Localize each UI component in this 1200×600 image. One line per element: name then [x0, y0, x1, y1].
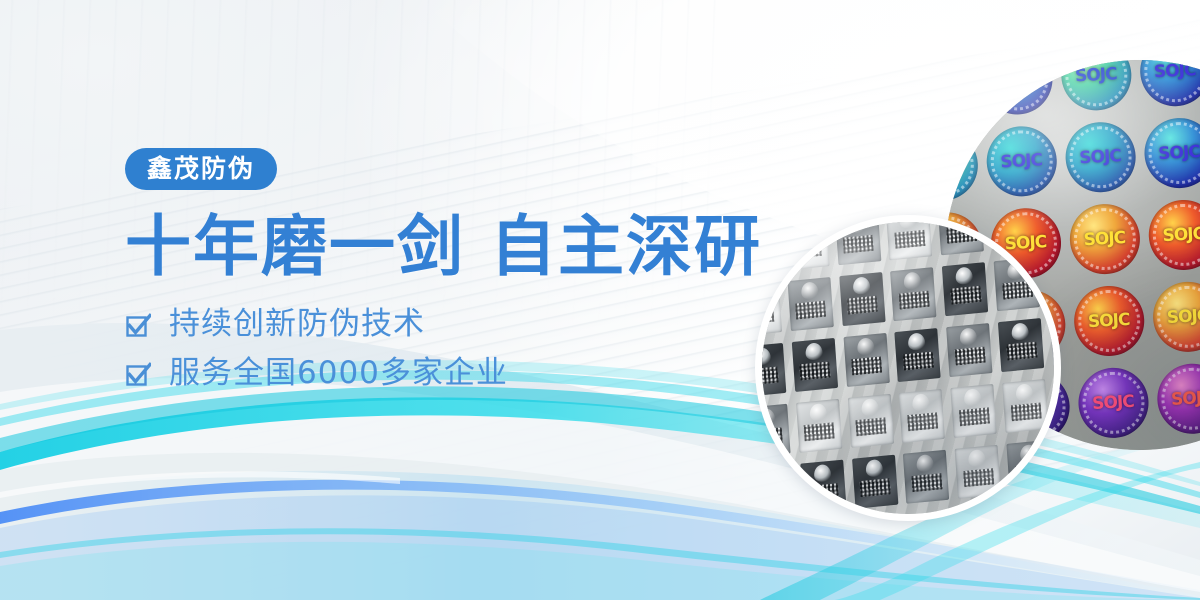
round-sticker: SOJC: [1142, 116, 1200, 190]
sticker-emblem-icon: [813, 464, 831, 483]
square-sticker: [852, 455, 898, 509]
round-sticker: SOJC: [945, 60, 975, 120]
round-sticker: SOJC: [1155, 362, 1200, 436]
square-sticker: [938, 215, 984, 255]
sticker-code: [907, 412, 938, 431]
square-sticker: [835, 215, 881, 265]
round-sticker: SOJC: [1080, 448, 1154, 450]
sticker-code: [800, 362, 831, 381]
sticker-emblem-icon: [964, 388, 982, 407]
sticker-emblem-icon: [1007, 261, 1025, 280]
square-sticker: [951, 384, 997, 438]
checkbox-checked-icon: [125, 361, 151, 387]
sticker-emblem-icon: [1011, 322, 1029, 341]
round-sticker: SOJC: [1059, 60, 1133, 112]
sticker-glyph: SOJC: [1166, 307, 1200, 326]
sticker-code: [1015, 463, 1046, 482]
square-sticker: [847, 394, 893, 448]
square-sticker: [839, 272, 885, 326]
sticker-code: [950, 286, 981, 305]
sticker-emblem-icon: [899, 215, 917, 229]
sticker-emblem-icon: [1016, 383, 1034, 402]
sticker-code: [911, 473, 942, 492]
list-item-label: 持续创新防伪技术: [169, 309, 425, 340]
sticker-code: [808, 483, 839, 502]
sticker-glyph: SOJC: [1162, 225, 1200, 244]
square-sticker: [1002, 379, 1048, 433]
sticker-emblem-icon: [762, 469, 780, 488]
sticker-code: [795, 301, 826, 320]
sticker-code: [1002, 281, 1033, 300]
round-sticker: SOJC: [1138, 60, 1200, 108]
sticker-code: [959, 407, 990, 426]
square-sticker: [783, 216, 829, 270]
sticker-code: [998, 220, 1029, 239]
sticker-emblem-icon: [856, 337, 874, 356]
square-sticker: [891, 267, 937, 321]
sticker-emblem-icon: [796, 220, 814, 239]
sticker-emblem-icon: [1020, 444, 1038, 463]
square-sticker: [899, 389, 945, 443]
round-sticker: SOJC: [1151, 280, 1200, 354]
round-sticker: SOJC: [945, 129, 979, 203]
checkbox-checked-icon: [125, 312, 151, 338]
sticker-glyph: SOJC: [1158, 144, 1200, 163]
list-item: 服务全国6000多家企业: [125, 358, 765, 389]
sticker-code: [851, 357, 882, 376]
sticker-glyph: SOJC: [945, 156, 963, 175]
square-sticker: [903, 450, 949, 504]
sticker-emblem-icon: [861, 398, 879, 417]
sticker-glyph: SOJC: [1154, 62, 1196, 81]
sticker-emblem-icon: [912, 393, 930, 412]
square-sticker: [886, 215, 932, 260]
feature-list: 持续创新防伪技术 服务全国6000多家企业: [125, 309, 765, 389]
square-sticker: [787, 277, 833, 331]
sticker-emblem-icon: [904, 271, 922, 290]
sticker-emblem-icon: [800, 281, 818, 300]
square-sticker: [994, 257, 1040, 311]
round-sticker: SOJC: [1063, 120, 1137, 194]
sticker-code: [899, 291, 930, 310]
round-sticker: SOJC: [980, 60, 1054, 116]
sticker-code: [804, 422, 835, 441]
sticker-emblem-icon: [955, 266, 973, 285]
square-sticker-grid: [755, 215, 1061, 521]
headline: 十年磨一剑 自主深研: [125, 212, 765, 281]
sticker-code: [946, 225, 977, 244]
sticker-code: [860, 478, 891, 497]
sticker-emblem-icon: [805, 342, 823, 361]
sticker-code: [903, 352, 934, 371]
square-sticker: [942, 262, 988, 316]
sticker-emblem-icon: [960, 327, 978, 346]
sticker-code: [847, 296, 878, 315]
sticker-code: [856, 417, 887, 436]
sticker-code: [843, 235, 874, 254]
square-sticker: [792, 338, 838, 392]
round-sticker: SOJC: [1147, 198, 1200, 272]
hologram-silver-circle-image: [755, 215, 1061, 521]
round-sticker: SOJC: [1159, 444, 1200, 450]
sticker-glyph: SOJC: [945, 74, 959, 93]
sticker-code: [894, 230, 925, 249]
square-sticker: [946, 323, 992, 377]
sticker-glyph: SOJC: [1088, 311, 1130, 330]
sticker-emblem-icon: [809, 403, 827, 422]
sticker-emblem-icon: [908, 332, 926, 351]
sticker-emblem-icon: [865, 459, 883, 478]
sticker-code: [791, 240, 822, 259]
sticker-code: [963, 468, 994, 487]
banner-text-content: 鑫茂防伪 十年磨一剑 自主深研 持续创新防伪技术 服务全国6000多家企业: [125, 148, 765, 407]
sticker-emblem-icon: [916, 454, 934, 473]
square-sticker: [895, 328, 941, 382]
brand-badge: 鑫茂防伪: [125, 148, 277, 190]
sticker-code: [955, 347, 986, 366]
square-sticker: [843, 333, 889, 387]
sticker-code: [1006, 342, 1037, 361]
round-sticker: SOJC: [1072, 284, 1146, 358]
sticker-glyph: SOJC: [996, 70, 1038, 89]
round-sticker: SOJC: [984, 125, 1058, 199]
sticker-glyph: SOJC: [1075, 66, 1117, 85]
square-sticker: [955, 445, 1001, 499]
sticker-code: [1010, 402, 1041, 421]
list-item-label: 服务全国6000多家企业: [169, 358, 508, 389]
promotional-banner: SOJC SOJC SOJC SOJC SOJC SOJC SOJC SOJC …: [0, 0, 1200, 600]
square-sticker: [796, 399, 842, 453]
round-sticker: SOJC: [1076, 366, 1150, 440]
square-sticker: [1007, 440, 1053, 494]
sticker-glyph: SOJC: [1083, 230, 1125, 249]
sticker-code: [757, 488, 788, 507]
sticker-glyph: SOJC: [1092, 393, 1134, 412]
sticker-glyph: SOJC: [1079, 148, 1121, 167]
sticker-glyph: SOJC: [1171, 389, 1200, 408]
sticker-glyph: SOJC: [1000, 152, 1042, 171]
sticker-emblem-icon: [968, 449, 986, 468]
square-sticker: [800, 460, 846, 514]
list-item: 持续创新防伪技术: [125, 309, 765, 340]
sticker-emblem-icon: [852, 276, 870, 295]
round-sticker: SOJC: [1068, 202, 1142, 276]
square-sticker: [998, 318, 1044, 372]
